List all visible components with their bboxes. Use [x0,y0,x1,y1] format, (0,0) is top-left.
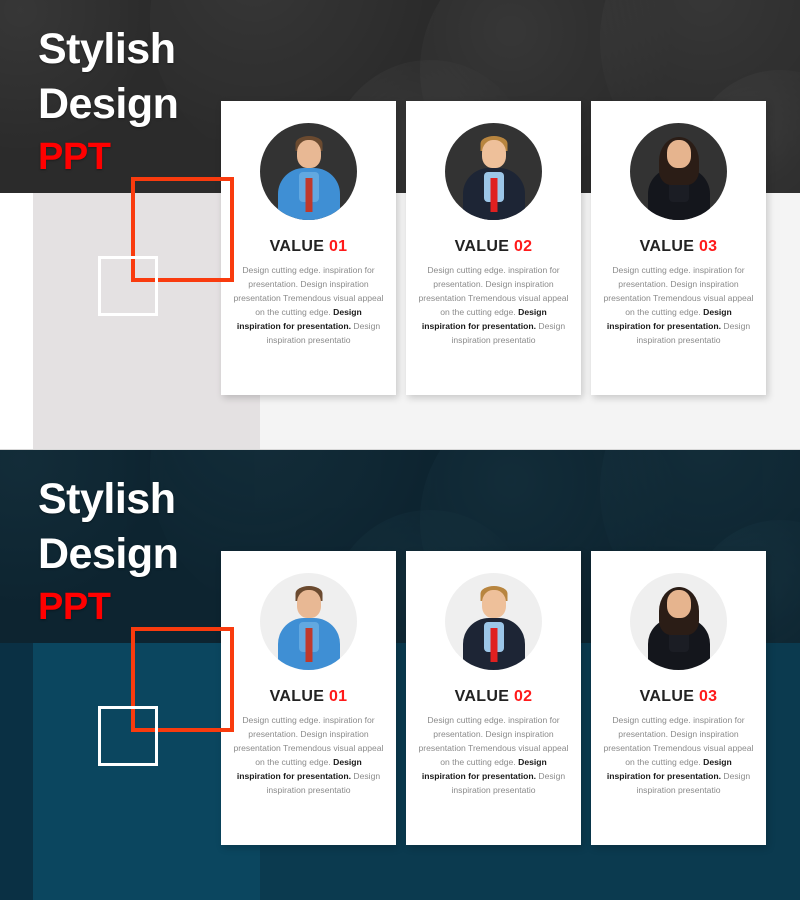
card-title: VALUE 02 [455,688,533,706]
card-title-label: VALUE [455,238,510,255]
value-card[interactable]: VALUE 03 Design cutting edge. inspiratio… [591,551,766,845]
card-body: Design cutting edge. inspiration for pre… [603,714,754,798]
card-body: Design cutting edge. inspiration for pre… [418,264,569,348]
card-title: VALUE 03 [640,688,718,706]
card-title: VALUE 02 [455,238,533,256]
card-title-number: 03 [699,688,717,705]
panel-top: Stylish Design PPT VALUE 01 Design cutti [0,0,800,450]
woman-black-blazer-avatar [630,573,727,670]
value-card[interactable]: VALUE 01 Design cutting edge. inspiratio… [221,551,396,845]
card-title-label: VALUE [640,688,695,705]
top-title-block: Stylish Design PPT [38,28,178,176]
man-blue-shirt-red-tie-avatar [260,123,357,220]
card-title-number: 01 [329,688,347,705]
card-body: Design cutting edge. inspiration for pre… [233,714,384,798]
white-outline-square [98,256,158,316]
value-card[interactable]: VALUE 01 Design cutting edge. inspiratio… [221,101,396,395]
man-navy-suit-red-tie-avatar [445,573,542,670]
man-blue-shirt-red-tie-avatar [260,573,357,670]
title-line-1: Stylish [38,28,178,71]
card-title-label: VALUE [270,238,325,255]
card-title-number: 01 [329,238,347,255]
panel-bottom: Stylish Design PPT VALUE 01 Design cutti [0,450,800,900]
card-body: Design cutting edge. inspiration for pre… [603,264,754,348]
man-navy-suit-red-tie-avatar [445,123,542,220]
title-line-2: Design [38,83,178,126]
card-title: VALUE 01 [270,688,348,706]
value-card[interactable]: VALUE 02 Design cutting edge. inspiratio… [406,101,581,395]
title-line-1: Stylish [38,478,178,521]
title-accent: PPT [38,138,178,176]
card-title-label: VALUE [640,238,695,255]
value-card[interactable]: VALUE 03 Design cutting edge. inspiratio… [591,101,766,395]
title-accent: PPT [38,588,178,626]
card-title-label: VALUE [270,688,325,705]
value-card[interactable]: VALUE 02 Design cutting edge. inspiratio… [406,551,581,845]
card-title: VALUE 01 [270,238,348,256]
card-title: VALUE 03 [640,238,718,256]
card-body: Design cutting edge. inspiration for pre… [418,714,569,798]
card-body: Design cutting edge. inspiration for pre… [233,264,384,348]
card-title-number: 02 [514,688,532,705]
woman-black-blazer-avatar [630,123,727,220]
card-title-label: VALUE [455,688,510,705]
white-outline-square [98,706,158,766]
card-title-number: 03 [699,238,717,255]
card-title-number: 02 [514,238,532,255]
title-line-2: Design [38,533,178,576]
bottom-title-block: Stylish Design PPT [38,478,178,626]
